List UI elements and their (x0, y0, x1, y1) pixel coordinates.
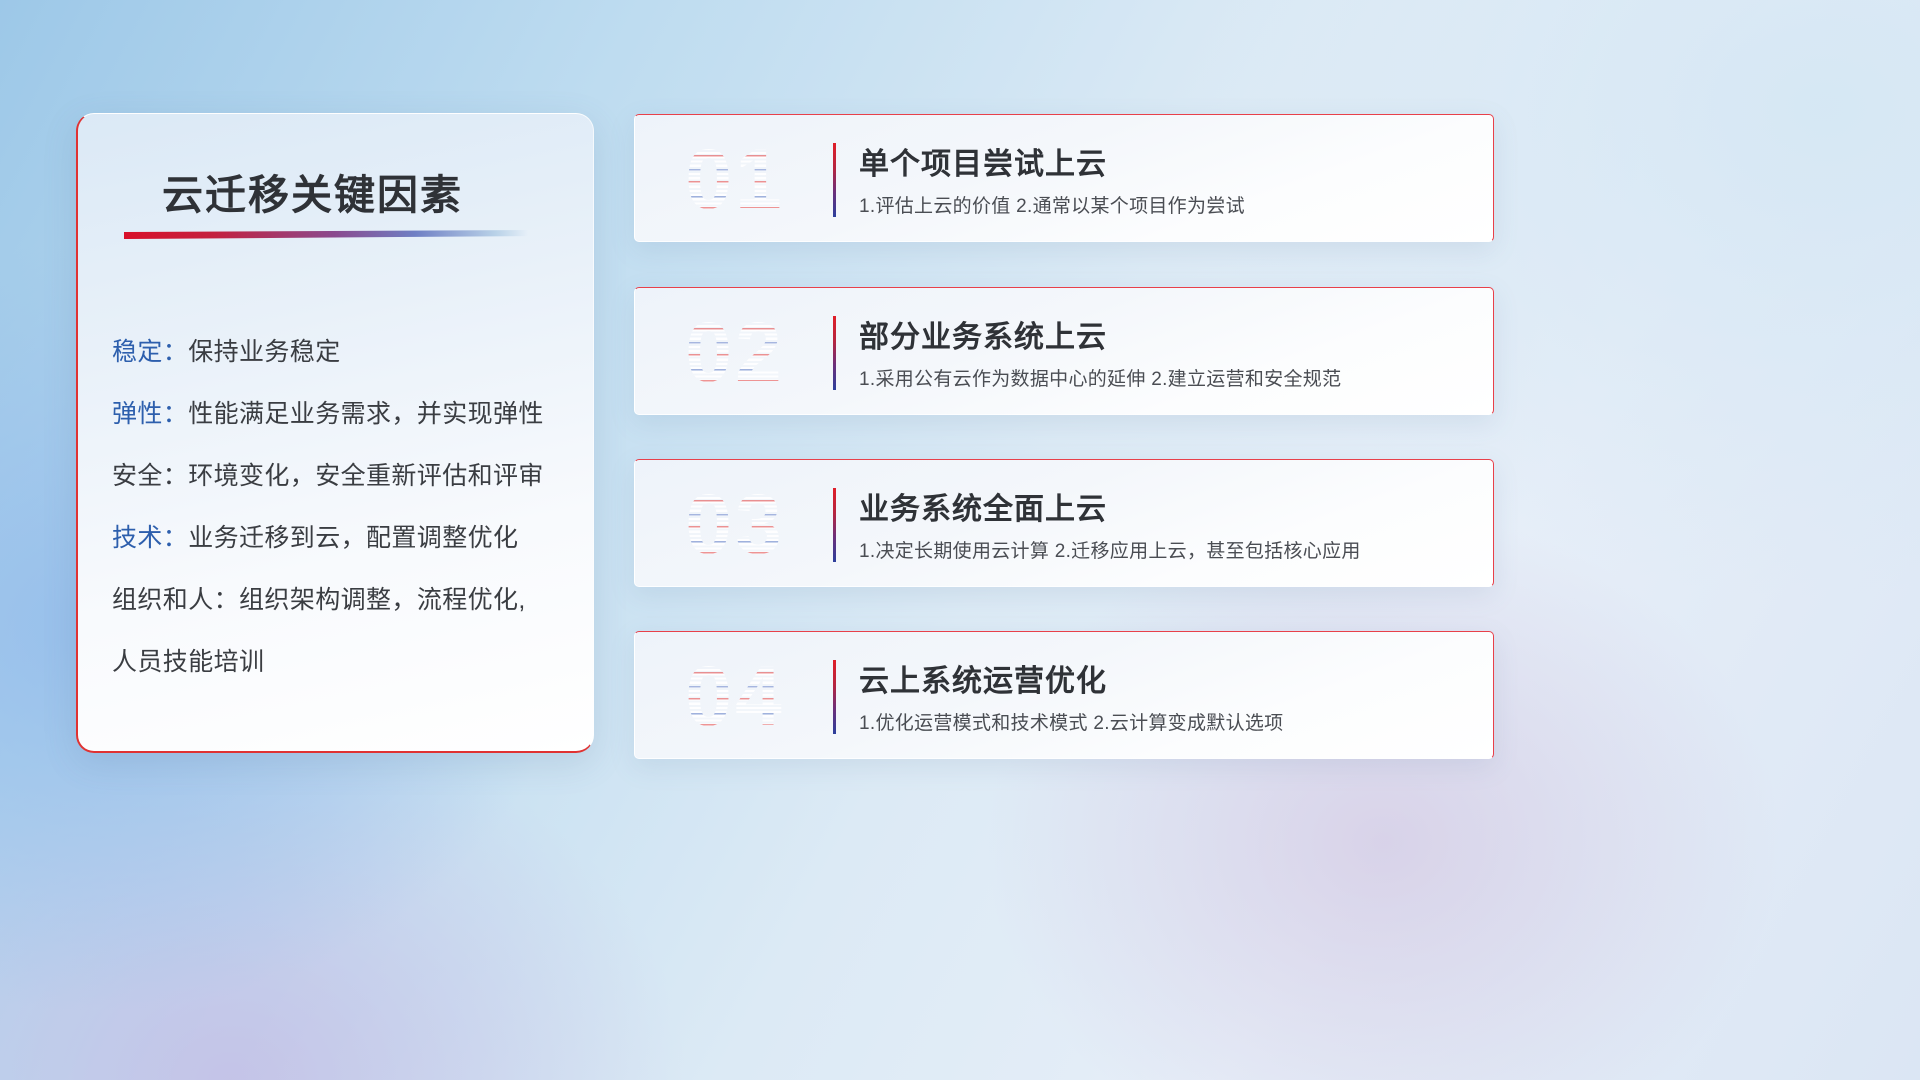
step-title: 单个项目尝试上云 (859, 139, 1107, 183)
factor-label: 弹性： (112, 400, 188, 428)
factor-text: 性能满足业务需求，并实现弹性 (188, 400, 544, 428)
factor-row-1: 弹性：性能满足业务需求，并实现弹性 (112, 394, 572, 430)
factor-text: 人员技能培训 (112, 648, 264, 676)
step-number-glitch: 02 (655, 302, 815, 402)
card-accent-bar (833, 316, 836, 390)
card-accent-bar (833, 488, 836, 562)
factor-text: 环境变化，安全重新评估和评审 (188, 462, 544, 490)
factor-text: 组织架构调整，流程优化, (239, 586, 526, 614)
step-card-03[interactable]: 03 03 业务系统全面上云 1.决定长期使用云计算 2.迁移应用上云，甚至包括… (634, 459, 1494, 587)
factor-label: 安全： (112, 462, 188, 490)
title-underline-accent (124, 230, 528, 239)
card-accent-bar (833, 660, 836, 734)
step-number-glitch: 04 (655, 646, 815, 746)
step-title: 部分业务系统上云 (859, 312, 1107, 356)
factor-label: 技术： (112, 524, 188, 552)
step-title: 云上系统运营优化 (859, 656, 1107, 700)
factor-row-4: 组织和人：组织架构调整，流程优化, (112, 580, 572, 616)
step-number-glitch: 03 (655, 474, 815, 574)
step-title: 业务系统全面上云 (859, 484, 1107, 528)
factor-row-3: 技术：业务迁移到云，配置调整优化 (112, 518, 572, 554)
factor-row-5: 人员技能培训 (112, 642, 572, 678)
slide-canvas: 云迁移关键因素 稳定：保持业务稳定 弹性：性能满足业务需求，并实现弹性 安全：环… (0, 0, 1920, 1080)
factor-row-2: 安全：环境变化，安全重新评估和评审 (112, 456, 572, 492)
factor-row-0: 稳定：保持业务稳定 (112, 332, 572, 368)
card-accent-bar (833, 143, 836, 217)
key-factors-panel: 云迁移关键因素 稳定：保持业务稳定 弹性：性能满足业务需求，并实现弹性 安全：环… (76, 113, 594, 753)
step-subtitle: 1.采用公有云作为数据中心的延伸 2.建立运营和安全规范 (859, 364, 1341, 391)
step-subtitle: 1.决定长期使用云计算 2.迁移应用上云，甚至包括核心应用 (859, 536, 1361, 563)
step-number-glitch: 01 (655, 129, 815, 229)
factor-text: 保持业务稳定 (188, 338, 340, 366)
step-card-01[interactable]: 01 01 单个项目尝试上云 1.评估上云的价值 2.通常以某个项目作为尝试 (634, 114, 1494, 242)
step-card-02[interactable]: 02 02 部分业务系统上云 1.采用公有云作为数据中心的延伸 2.建立运营和安… (634, 287, 1494, 415)
factor-label: 稳定： (112, 338, 188, 366)
step-subtitle: 1.评估上云的价值 2.通常以某个项目作为尝试 (859, 191, 1245, 218)
step-subtitle: 1.优化运营模式和技术模式 2.云计算变成默认选项 (859, 708, 1283, 735)
step-card-04[interactable]: 04 04 云上系统运营优化 1.优化运营模式和技术模式 2.云计算变成默认选项 (634, 631, 1494, 759)
page-title: 云迁移关键因素 (162, 161, 463, 221)
factor-label: 组织和人： (112, 586, 239, 614)
factor-text: 业务迁移到云，配置调整优化 (188, 524, 518, 552)
